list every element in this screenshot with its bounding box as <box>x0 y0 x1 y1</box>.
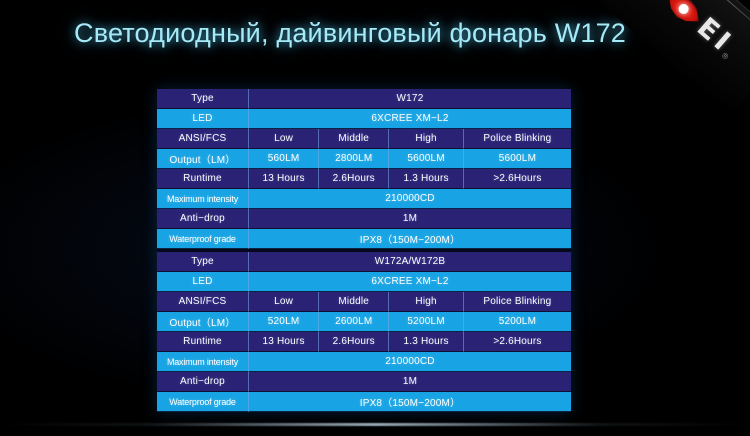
table-row: Output（LM）560LM2800LM5600LM5600LM <box>157 149 571 169</box>
row-value-cell: 2800LM <box>319 149 389 169</box>
row-value-cell: 520LM <box>249 312 319 332</box>
row-label: LED <box>157 272 249 292</box>
row-value-span: 1M <box>249 209 571 229</box>
page-title: Светодиодный, дайвинговый фонарь W172 <box>74 18 626 49</box>
row-value-span: IPX8（150M−200M） <box>249 392 571 412</box>
row-value-span: IPX8（150M−200M） <box>249 229 571 249</box>
row-value-cell: High <box>389 292 464 312</box>
table-row: TypeW172A/W172B <box>157 252 571 272</box>
row-value-cell: 13 Hours <box>249 332 319 352</box>
row-value-cell: >2.6Hours <box>464 169 571 189</box>
row-label: Anti−drop <box>157 209 249 229</box>
bottom-glow-divider <box>0 423 750 426</box>
row-label: Anti−drop <box>157 372 249 392</box>
row-value-cell: 2.6Hours <box>319 332 389 352</box>
table-row: TypeW172 <box>157 89 571 109</box>
row-value-cell: High <box>389 129 464 149</box>
row-value-cell: Police Blinking <box>464 292 571 312</box>
row-label: Maximum intensity <box>157 352 249 372</box>
trademark-symbol: ® <box>720 51 730 62</box>
row-label: Runtime <box>157 169 249 189</box>
row-value-cell: 13 Hours <box>249 169 319 189</box>
row-value-span: 6XCREE XM−L2 <box>249 109 571 129</box>
row-value-cell: 1.3 Hours <box>389 169 464 189</box>
row-value-cell: Low <box>249 129 319 149</box>
row-value-cell: Police Blinking <box>464 129 571 149</box>
row-value-cell: 5200LM <box>389 312 464 332</box>
row-value-span: 210000CD <box>249 352 571 372</box>
row-value-cell: 560LM <box>249 149 319 169</box>
row-value-span: W172A/W172B <box>249 252 571 272</box>
table-row: Runtime13 Hours2.6Hours1.3 Hours>2.6Hour… <box>157 332 571 352</box>
row-value-cell: Middle <box>319 129 389 149</box>
row-value-cell: >2.6Hours <box>464 332 571 352</box>
row-value-span: 1M <box>249 372 571 392</box>
table-row: ANSI/FCSLowMiddleHighPolice Blinking <box>157 129 571 149</box>
row-value-cell: Middle <box>319 292 389 312</box>
row-label: ANSI/FCS <box>157 292 249 312</box>
row-value-cell: Low <box>249 292 319 312</box>
row-label: LED <box>157 109 249 129</box>
row-value-cell: 5600LM <box>464 149 571 169</box>
table-row: ANSI/FCSLowMiddleHighPolice Blinking <box>157 292 571 312</box>
row-label: Output（LM） <box>157 312 249 332</box>
row-value-cell: 5600LM <box>389 149 464 169</box>
table-row: Waterproof gradeIPX8（150M−200M） <box>157 392 571 412</box>
row-value-cell: 5200LM <box>464 312 571 332</box>
table-row: Anti−drop1M <box>157 372 571 392</box>
row-value-cell: 2600LM <box>319 312 389 332</box>
row-value-cell: 1.3 Hours <box>389 332 464 352</box>
row-label: Waterproof grade <box>157 229 249 249</box>
specifications-table: TypeW172LED6XCREE XM−L2ANSI/FCSLowMiddle… <box>157 89 571 412</box>
table-row: Maximum intensity210000CD <box>157 352 571 372</box>
row-label: Type <box>157 252 249 272</box>
table-row: Runtime13 Hours2.6Hours1.3 Hours>2.6Hour… <box>157 169 571 189</box>
row-value-span: 210000CD <box>249 189 571 209</box>
table-row: Maximum intensity210000CD <box>157 189 571 209</box>
row-label: Maximum intensity <box>157 189 249 209</box>
row-value-cell: 2.6Hours <box>319 169 389 189</box>
table-row: Output（LM）520LM2600LM5200LM5200LM <box>157 312 571 332</box>
table-row: LED6XCREE XM−L2 <box>157 109 571 129</box>
row-label: Runtime <box>157 332 249 352</box>
row-value-span: W172 <box>249 89 571 109</box>
row-value-span: 6XCREE XM−L2 <box>249 272 571 292</box>
row-label: Type <box>157 89 249 109</box>
row-label: ANSI/FCS <box>157 129 249 149</box>
row-label: Waterproof grade <box>157 392 249 412</box>
table-row: LED6XCREE XM−L2 <box>157 272 571 292</box>
row-label: Output（LM） <box>157 149 249 169</box>
table-row: Waterproof gradeIPX8（150M−200M） <box>157 229 571 249</box>
table-row: Anti−drop1M <box>157 209 571 229</box>
